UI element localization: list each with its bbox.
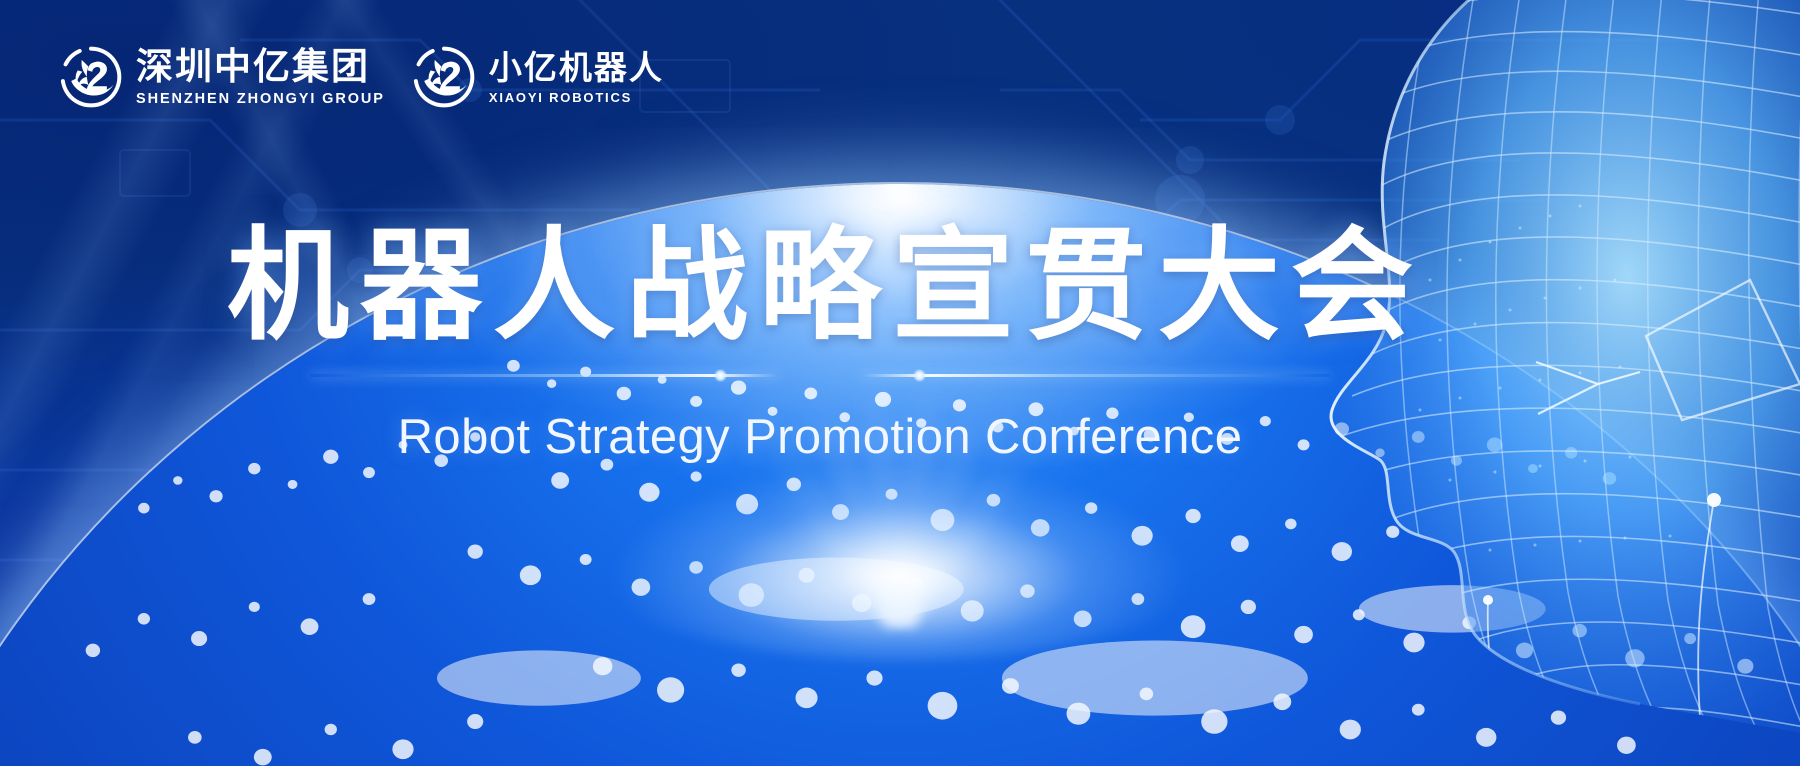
light-streak-right [860, 374, 1330, 377]
logo-name-cn: 深圳中亿集团 [136, 48, 385, 85]
conference-banner: 深圳中亿集团 SHENZHEN ZHONGYI GROUP 小亿机器人 XIAO… [0, 0, 1800, 766]
page-subtitle: Robot Strategy Promotion Conference [398, 413, 1243, 462]
page-title: 机器人战略宣贯大会 [227, 225, 1424, 347]
xiaoyi-circle-emblem-icon [411, 44, 477, 110]
headline-block: 机器人战略宣贯大会 Robot Strategy Promotion Confe… [0, 225, 1800, 462]
light-streak-left [310, 374, 780, 377]
divider-dot-right [913, 369, 926, 382]
zhongyi-circle-emblem-icon [58, 44, 124, 110]
logo-xiaoyi-robotics[interactable]: 小亿机器人 XIAOYI ROBOTICS [411, 44, 664, 110]
logo-bar: 深圳中亿集团 SHENZHEN ZHONGYI GROUP 小亿机器人 XIAO… [58, 44, 664, 110]
logo-name-cn: 小亿机器人 [489, 51, 664, 84]
divider-dot-left [714, 369, 727, 382]
title-divider [310, 363, 1330, 389]
logo-shenzhen-zhongyi-group[interactable]: 深圳中亿集团 SHENZHEN ZHONGYI GROUP [58, 44, 385, 110]
logo-name-en: SHENZHEN ZHONGYI GROUP [136, 92, 385, 107]
logo-name-en: XIAOYI ROBOTICS [489, 91, 664, 104]
